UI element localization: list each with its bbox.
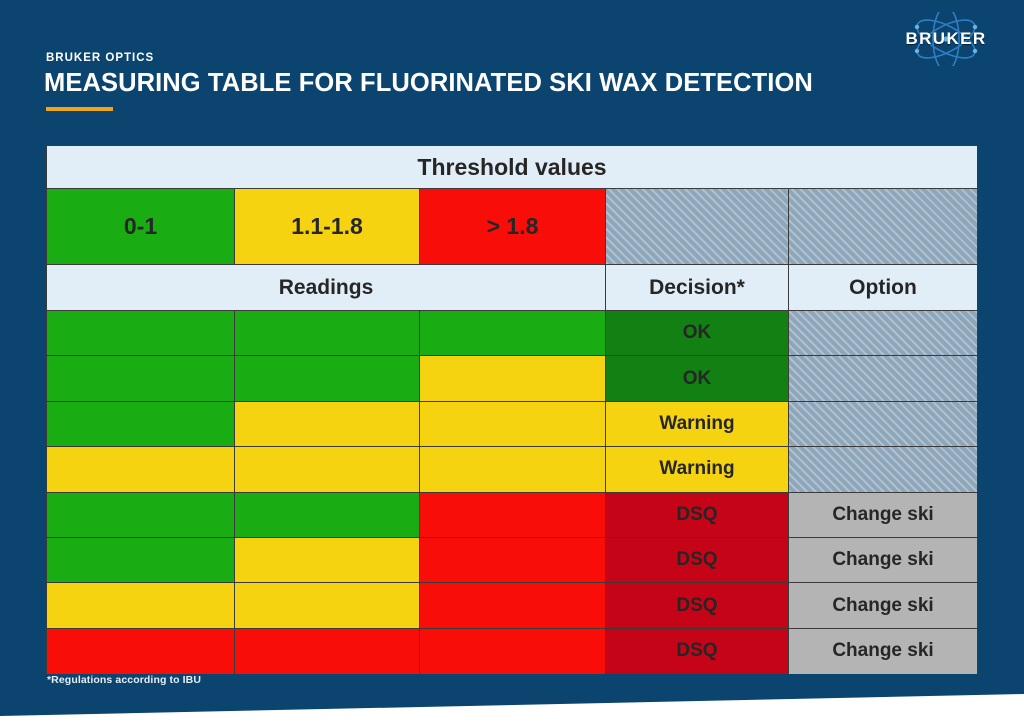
option-cell <box>789 311 977 356</box>
table-row: OK <box>47 356 977 401</box>
decision-cell: DSQ <box>606 583 789 628</box>
threshold-value-red: > 1.8 <box>420 189 606 265</box>
brand-eyebrow: BRUKER OPTICS <box>46 52 154 64</box>
slide-canvas: BRUKER OPTICS MEASURING TABLE FOR FLUORI… <box>0 0 1024 724</box>
table-body: OKOKWarningWarningDSQChange skiDSQChange… <box>47 311 977 674</box>
table-row: OK <box>47 311 977 356</box>
reading-cell-yellow <box>420 402 606 447</box>
reading-cell-green <box>420 311 606 356</box>
threshold-empty-cell-2 <box>789 189 977 265</box>
reading-cell-yellow <box>235 447 420 492</box>
decision-cell: DSQ <box>606 538 789 583</box>
threshold-value-yellow: 1.1-1.8 <box>235 189 420 265</box>
reading-cell-yellow <box>47 447 235 492</box>
reading-cell-green <box>47 493 235 538</box>
reading-cell-yellow <box>47 583 235 628</box>
decision-cell: Warning <box>606 447 789 492</box>
reading-cell-green <box>47 311 235 356</box>
threshold-title-row: Threshold values <box>47 146 977 189</box>
reading-cell-green <box>47 402 235 447</box>
reading-cell-red <box>420 583 606 628</box>
option-cell: Change ski <box>789 538 977 583</box>
page-title: MEASURING TABLE FOR FLUORINATED SKI WAX … <box>44 69 813 98</box>
option-cell: Change ski <box>789 629 977 674</box>
option-cell: Change ski <box>789 583 977 628</box>
threshold-value-green: 0-1 <box>47 189 235 265</box>
column-header-row: Readings Decision* Option <box>47 265 977 311</box>
option-cell <box>789 356 977 401</box>
reading-cell-green <box>235 311 420 356</box>
decision-cell: DSQ <box>606 493 789 538</box>
decision-cell: OK <box>606 356 789 401</box>
reading-cell-yellow <box>420 356 606 401</box>
column-header-option: Option <box>789 265 977 311</box>
reading-cell-green <box>235 493 420 538</box>
table-row: DSQChange ski <box>47 538 977 583</box>
decision-cell: DSQ <box>606 629 789 674</box>
table-row: Warning <box>47 447 977 492</box>
table-row: Warning <box>47 402 977 447</box>
reading-cell-red <box>47 629 235 674</box>
reading-cell-yellow <box>235 402 420 447</box>
table-row: DSQChange ski <box>47 583 977 628</box>
decision-cell: OK <box>606 311 789 356</box>
reading-cell-green <box>235 356 420 401</box>
threshold-values-row: 0-1 1.1-1.8 > 1.8 <box>47 189 977 265</box>
reading-cell-red <box>420 493 606 538</box>
reading-cell-yellow <box>235 583 420 628</box>
reading-cell-red <box>420 629 606 674</box>
bruker-wordmark: BRUKER <box>886 12 1006 66</box>
table-row: DSQChange ski <box>47 629 977 674</box>
reading-cell-green <box>47 538 235 583</box>
threshold-empty-cell-1 <box>606 189 789 265</box>
threshold-title-cell: Threshold values <box>47 146 977 189</box>
reading-cell-yellow <box>420 447 606 492</box>
column-header-readings: Readings <box>47 265 606 311</box>
decision-cell: Warning <box>606 402 789 447</box>
bruker-logo: BRUKER <box>886 12 1006 66</box>
reading-cell-red <box>235 629 420 674</box>
option-cell: Change ski <box>789 493 977 538</box>
reading-cell-red <box>420 538 606 583</box>
column-header-decision: Decision* <box>606 265 789 311</box>
measuring-table: Threshold values 0-1 1.1-1.8 > 1.8 Readi… <box>46 145 978 673</box>
option-cell <box>789 402 977 447</box>
reading-cell-yellow <box>235 538 420 583</box>
option-cell <box>789 447 977 492</box>
reading-cell-green <box>47 356 235 401</box>
table-row: DSQChange ski <box>47 493 977 538</box>
title-accent-rule <box>46 107 113 111</box>
footnote: *Regulations according to IBU <box>47 674 201 686</box>
